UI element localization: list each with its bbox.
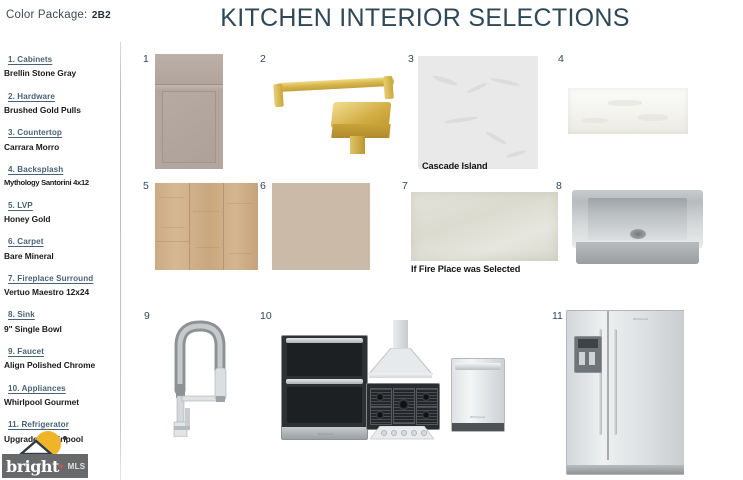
cabinet-drawer-front <box>155 54 223 85</box>
bar-pull-icon <box>276 77 394 92</box>
caption-cascade-island: Cascade Island <box>422 161 488 171</box>
tile-number-7: 7 <box>402 180 408 192</box>
side-by-side-fridge-icon: Whirlpool <box>566 310 684 475</box>
spec-link-lvp[interactable]: 5. LVP <box>8 202 33 210</box>
color-package-label: Color Package: <box>6 9 87 21</box>
wood-grain <box>159 197 185 198</box>
watermark-mls: MLS <box>68 462 86 471</box>
spec-value-lvp: Honey Gold <box>4 215 116 224</box>
plank-seam <box>189 183 190 270</box>
spec-value-appliances: Whirlpool Gourmet <box>4 398 116 407</box>
spec-value-sink: 9" Single Bowl <box>4 325 116 334</box>
marble-vein <box>444 116 478 125</box>
spec-link-cabinets[interactable]: 1. Cabinets <box>8 56 52 64</box>
cabinet-reveal <box>155 85 223 90</box>
oven-upper-glass <box>287 342 362 376</box>
marble-vein <box>432 74 458 87</box>
tile-number-10: 10 <box>260 310 272 322</box>
spec-link-carpet[interactable]: 6. Carpet <box>8 238 44 246</box>
spec-link-backsplash[interactable]: 4. Backsplash <box>8 166 63 174</box>
bar-pull-leg-left <box>273 84 284 108</box>
dispenser-display <box>578 339 598 348</box>
dishwasher-brandmark: Whirlpool <box>470 415 485 419</box>
bright-mls-watermark: bright ✶ MLS <box>2 454 88 478</box>
list-item[interactable]: 4. Backsplash Mythology Santorini 4x12 <box>0 160 118 187</box>
range-hood-rim <box>369 373 432 378</box>
dishwasher-handle <box>455 363 501 370</box>
swatch-lvp-flooring <box>155 183 258 270</box>
selection-spec-list: 1. Cabinets Brellin Stone Gray 2. Hardwa… <box>0 50 118 452</box>
marble-vein <box>490 77 520 87</box>
range-hood-canopy-icon <box>368 348 433 376</box>
fridge-toe-kick <box>567 465 684 474</box>
spec-link-fireplace-surround[interactable]: 7. Fireplace Surround <box>8 275 93 283</box>
list-item[interactable]: 5. LVP Honey Gold <box>0 196 118 224</box>
wood-grain <box>193 211 219 212</box>
wood-grain <box>195 247 219 248</box>
spring-faucet-icon <box>152 312 247 437</box>
oven-upper-handle <box>286 338 363 343</box>
cooktop-burner <box>422 411 430 419</box>
ice-water-dispenser <box>574 336 602 373</box>
tile-mottle <box>638 114 668 121</box>
cooktop-burner <box>376 411 384 419</box>
fridge-brandmark: Whirlpool <box>633 317 648 321</box>
list-item[interactable]: 8. Sink 9" Single Bowl <box>0 305 118 333</box>
spec-link-faucet[interactable]: 9. Faucet <box>8 348 44 356</box>
tile-number-5: 5 <box>143 180 149 192</box>
dishwasher-icon: Whirlpool <box>451 358 505 432</box>
dispenser-lever <box>589 352 595 365</box>
dishwasher-toe-kick <box>452 423 504 431</box>
oven-brandmark: Whirlpool <box>318 432 333 436</box>
marble-vein <box>485 130 508 145</box>
spec-value-cabinets: Brellin Stone Gray <box>4 69 116 78</box>
sidebar-divider <box>120 42 121 480</box>
list-item[interactable]: 2. Hardware Brushed Gold Pulls <box>0 87 118 115</box>
watermark-star-icon: ✶ <box>58 462 65 471</box>
gas-cooktop-icon <box>366 383 440 430</box>
bar-pull-leg-right <box>383 76 394 100</box>
spec-link-sink[interactable]: 8. Sink <box>8 311 35 319</box>
tile-number-8: 8 <box>556 180 562 192</box>
swatch-cabinet-door <box>155 54 223 169</box>
cooktop-burner <box>376 393 384 401</box>
selections-board: Color Package: 2B2 1. Cabinets Brellin S… <box>0 0 743 480</box>
image-refrigerator: Whirlpool <box>566 310 684 478</box>
plank-seam <box>155 241 189 242</box>
spec-link-appliances[interactable]: 10. Appliances <box>8 385 66 393</box>
swatch-carpet <box>272 183 370 270</box>
range-hood-duct <box>393 320 408 350</box>
image-faucet <box>152 312 247 437</box>
sink-apron <box>576 242 699 264</box>
wood-grain <box>229 253 253 254</box>
color-package-value: 2B2 <box>92 10 111 21</box>
square-knob-stem <box>350 136 365 154</box>
brand-logo: Duffy bright ✶ MLS <box>2 428 98 478</box>
tile-number-3: 3 <box>408 53 414 65</box>
plank-seam <box>223 183 224 270</box>
list-item[interactable]: 3. Countertop Carrara Morro <box>0 123 118 151</box>
oven-lower-glass <box>287 387 362 423</box>
watermark-bright: bright <box>6 457 59 476</box>
tile-mottle <box>582 118 608 123</box>
marble-vein <box>506 149 526 158</box>
sidebar: Color Package: 2B2 1. Cabinets Brellin S… <box>0 0 121 480</box>
cooktop-burner <box>422 393 430 401</box>
fridge-door-split <box>607 311 609 460</box>
list-item[interactable]: 7. Fireplace Surround Vertuo Maestro 12x… <box>0 269 118 297</box>
swatch-hardware <box>262 58 407 166</box>
wood-grain <box>161 227 185 228</box>
image-sink <box>566 184 709 270</box>
carpet-texture <box>272 183 370 270</box>
sink-drain-icon <box>630 229 646 239</box>
image-appliance-package: Whirlpool <box>275 318 510 443</box>
fridge-handle-right <box>613 329 617 435</box>
cooktop-knob-panel <box>370 426 434 440</box>
tile-number-4: 4 <box>558 53 564 65</box>
color-package-header: Color Package: 2B2 <box>6 5 121 23</box>
marble-vein <box>466 82 488 95</box>
list-item[interactable]: 1. Cabinets Brellin Stone Gray <box>0 50 118 78</box>
list-item[interactable]: 9. Faucet Align Polished Chrome <box>0 342 118 370</box>
spec-link-hardware[interactable]: 2. Hardware <box>8 93 55 101</box>
spec-value-countertop: Carrara Morro <box>4 143 116 152</box>
spec-link-countertop[interactable]: 3. Countertop <box>8 129 62 137</box>
spec-value-hardware: Brushed Gold Pulls <box>4 106 116 115</box>
cooktop-burner <box>398 399 409 410</box>
swatch-countertop <box>418 56 538 169</box>
spec-value-fireplace-surround: Vertuo Maestro 12x24 <box>4 288 116 297</box>
tile-number-11: 11 <box>552 310 563 322</box>
tile-number-9: 9 <box>144 310 150 322</box>
swatch-fireplace-surround <box>411 192 558 261</box>
oven-middle-handle <box>286 379 363 384</box>
wood-grain <box>227 203 253 204</box>
cabinet-shaker-panel <box>162 91 216 163</box>
tile-number-6: 6 <box>260 180 266 192</box>
swatch-backsplash <box>568 88 688 134</box>
spec-value-backsplash: Mythology Santorini 4x12 <box>4 179 116 187</box>
caption-fireplace-note: If Fire Place was Selected <box>411 264 520 274</box>
tile-mottle <box>608 100 642 106</box>
list-item[interactable]: 6. Carpet Bare Mineral <box>0 232 118 260</box>
dispenser-lever <box>579 352 585 365</box>
spec-value-carpet: Bare Mineral <box>4 252 116 261</box>
page-title: KITCHEN INTERIOR SELECTIONS <box>195 4 655 33</box>
tile-number-1: 1 <box>143 53 149 65</box>
double-wall-oven-icon: Whirlpool <box>281 335 368 440</box>
list-item[interactable]: 10. Appliances Whirlpool Gourmet <box>0 379 118 407</box>
spec-value-faucet: Align Polished Chrome <box>4 361 116 370</box>
